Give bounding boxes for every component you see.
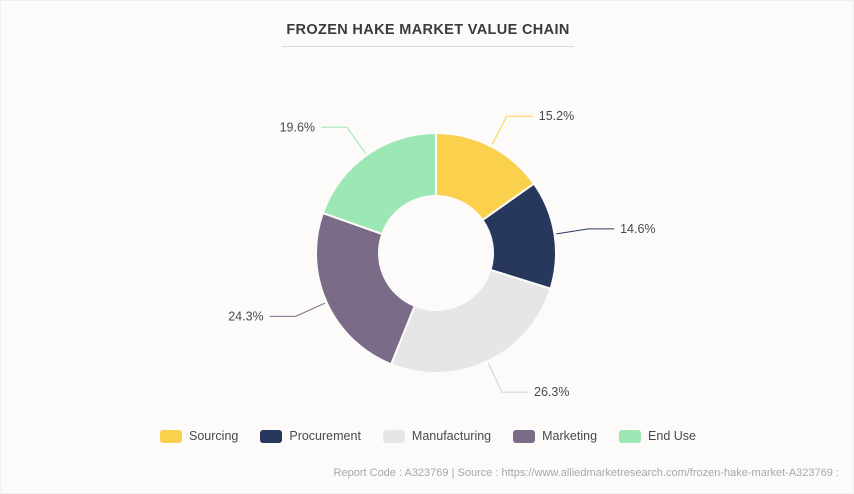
slice-label-marketing: 24.3% (228, 309, 263, 323)
legend-item-marketing[interactable]: Marketing (513, 429, 597, 443)
leader-line-procurement (556, 229, 614, 234)
legend-swatch-icon (260, 430, 282, 443)
slice-label-end-use: 19.6% (280, 120, 315, 134)
page-title-container: FROZEN HAKE MARKET VALUE CHAIN (1, 21, 854, 47)
slice-label-manufacturing: 26.3% (534, 385, 569, 399)
legend-swatch-icon (383, 430, 405, 443)
legend-item-label: Procurement (289, 429, 361, 443)
legend-swatch-icon (160, 430, 182, 443)
leader-line-marketing (270, 303, 325, 316)
legend-item-end-use[interactable]: End Use (619, 429, 696, 443)
page-title: FROZEN HAKE MARKET VALUE CHAIN (282, 22, 573, 47)
chart-legend: SourcingProcurementManufacturingMarketin… (1, 429, 854, 443)
legend-item-manufacturing[interactable]: Manufacturing (383, 429, 491, 443)
chart-page: FROZEN HAKE MARKET VALUE CHAIN 15.2%14.6… (0, 0, 854, 494)
slice-label-sourcing: 15.2% (539, 109, 574, 123)
legend-swatch-icon (619, 430, 641, 443)
donut-slice-manufacturing[interactable] (391, 270, 550, 373)
leader-line-manufacturing (488, 363, 528, 392)
legend-item-procurement[interactable]: Procurement (260, 429, 361, 443)
leader-line-sourcing (492, 116, 533, 144)
donut-chart-svg: 15.2%14.6%26.3%24.3%19.6% (1, 61, 854, 411)
footer-source-text: Report Code : A323769 | Source : https:/… (334, 467, 839, 479)
footer: Report Code : A323769 | Source : https:/… (1, 463, 854, 481)
legend-item-label: Marketing (542, 429, 597, 443)
legend-swatch-icon (513, 430, 535, 443)
donut-slice-marketing[interactable] (316, 213, 415, 364)
donut-slice-end-use[interactable] (323, 133, 436, 234)
legend-item-label: End Use (648, 429, 696, 443)
slice-label-procurement: 14.6% (620, 222, 655, 236)
donut-chart-area: 15.2%14.6%26.3%24.3%19.6% (1, 61, 854, 411)
legend-item-label: Manufacturing (412, 429, 491, 443)
leader-line-end-use (321, 127, 365, 153)
legend-item-sourcing[interactable]: Sourcing (160, 429, 238, 443)
donut-slices (316, 133, 556, 373)
legend-item-label: Sourcing (189, 429, 238, 443)
